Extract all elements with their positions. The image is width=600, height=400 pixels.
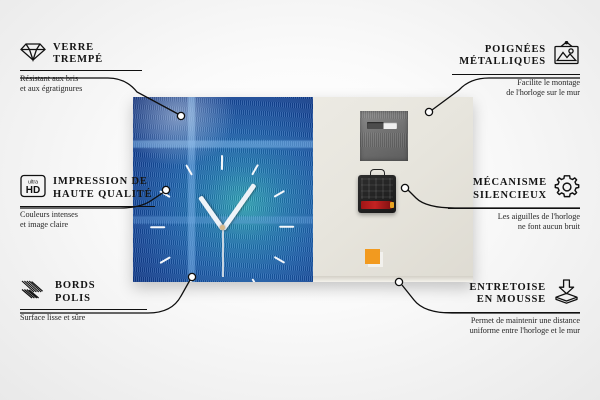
clock-tick xyxy=(251,278,259,282)
feature-rule xyxy=(452,74,580,75)
clock-tick xyxy=(273,190,285,198)
feature-entretoise-en-mousse: ENTRETOISE EN MOUSSE Permet de maintenir… xyxy=(440,279,580,336)
mechanism-texture xyxy=(361,178,393,199)
metal-hanger-plate xyxy=(360,111,408,161)
foam-spacer xyxy=(365,249,380,264)
clock-tick xyxy=(221,155,223,170)
feature-bords-polis: BORDS POLIS Surface lisse et sûre xyxy=(20,279,147,323)
clock-second-hand xyxy=(222,227,224,277)
diamond-icon xyxy=(20,41,46,67)
clock-hand-hub xyxy=(220,225,225,230)
feature-title: MÉCANISME SILENCIEUX xyxy=(473,177,547,202)
feature-subtitle: Permet de maintenir une distance uniform… xyxy=(440,316,580,336)
gear-icon xyxy=(554,174,580,205)
product-photo xyxy=(133,97,473,282)
clock-mechanism xyxy=(358,175,396,213)
clock-front-face xyxy=(133,97,313,282)
feature-title: VERRE TREMPÉ xyxy=(53,42,103,67)
feature-title: ENTRETOISE EN MOUSSE xyxy=(469,282,546,307)
picture-frame-hanging-icon xyxy=(553,41,580,71)
feature-verre-trempe: VERRE TREMPÉ Résistant aux bris et aux é… xyxy=(20,41,142,94)
feature-rule xyxy=(20,70,142,71)
feature-title: BORDS POLIS xyxy=(55,280,95,305)
feature-rule xyxy=(20,309,147,310)
clock-tick xyxy=(159,256,171,264)
feature-subtitle: Couleurs intenses et image claire xyxy=(20,210,155,230)
feature-subtitle: Facilite le montage de l'horloge sur le … xyxy=(452,78,580,98)
clock-tick xyxy=(273,256,285,264)
feature-rule xyxy=(448,208,580,209)
foam-spacer-arrow-icon xyxy=(553,279,580,309)
feature-title: POIGNÉES MÉTALLIQUES xyxy=(459,44,546,69)
feature-impression-haute-qualite: ultra HD IMPRESSION DE HAUTE QUALITÉ Cou… xyxy=(20,174,155,230)
badge-bottom-text: HD xyxy=(26,185,40,196)
feature-subtitle: Les aiguilles de l'horloge ne font aucun… xyxy=(448,212,580,232)
clock-tick xyxy=(159,190,171,198)
feature-rule xyxy=(20,206,155,207)
hanger-slot xyxy=(367,122,397,129)
feature-subtitle: Surface lisse et sûre xyxy=(20,313,147,323)
infographic-canvas: VERRE TREMPÉ Résistant aux bris et aux é… xyxy=(0,0,600,400)
clock-tick xyxy=(185,164,193,176)
polished-edges-icon xyxy=(20,279,48,306)
clock-tick xyxy=(251,164,259,176)
clock-tick xyxy=(185,278,193,282)
clock-minute-hand xyxy=(221,183,257,231)
feature-mecanisme-silencieux: MÉCANISME SILENCIEUX Les aiguilles de l'… xyxy=(448,174,580,232)
battery xyxy=(361,201,392,209)
feature-subtitle: Résistant aux bris et aux égratignures xyxy=(20,74,142,94)
ultra-hd-badge-icon: ultra HD xyxy=(20,174,46,203)
feature-poignees-metalliques: POIGNÉES MÉTALLIQUES Facilite le montage… xyxy=(452,41,580,98)
clock-tick xyxy=(279,226,294,228)
feature-rule xyxy=(440,312,580,313)
mechanism-hook xyxy=(370,169,385,178)
feature-title: IMPRESSION DE HAUTE QUALITÉ xyxy=(53,176,152,201)
